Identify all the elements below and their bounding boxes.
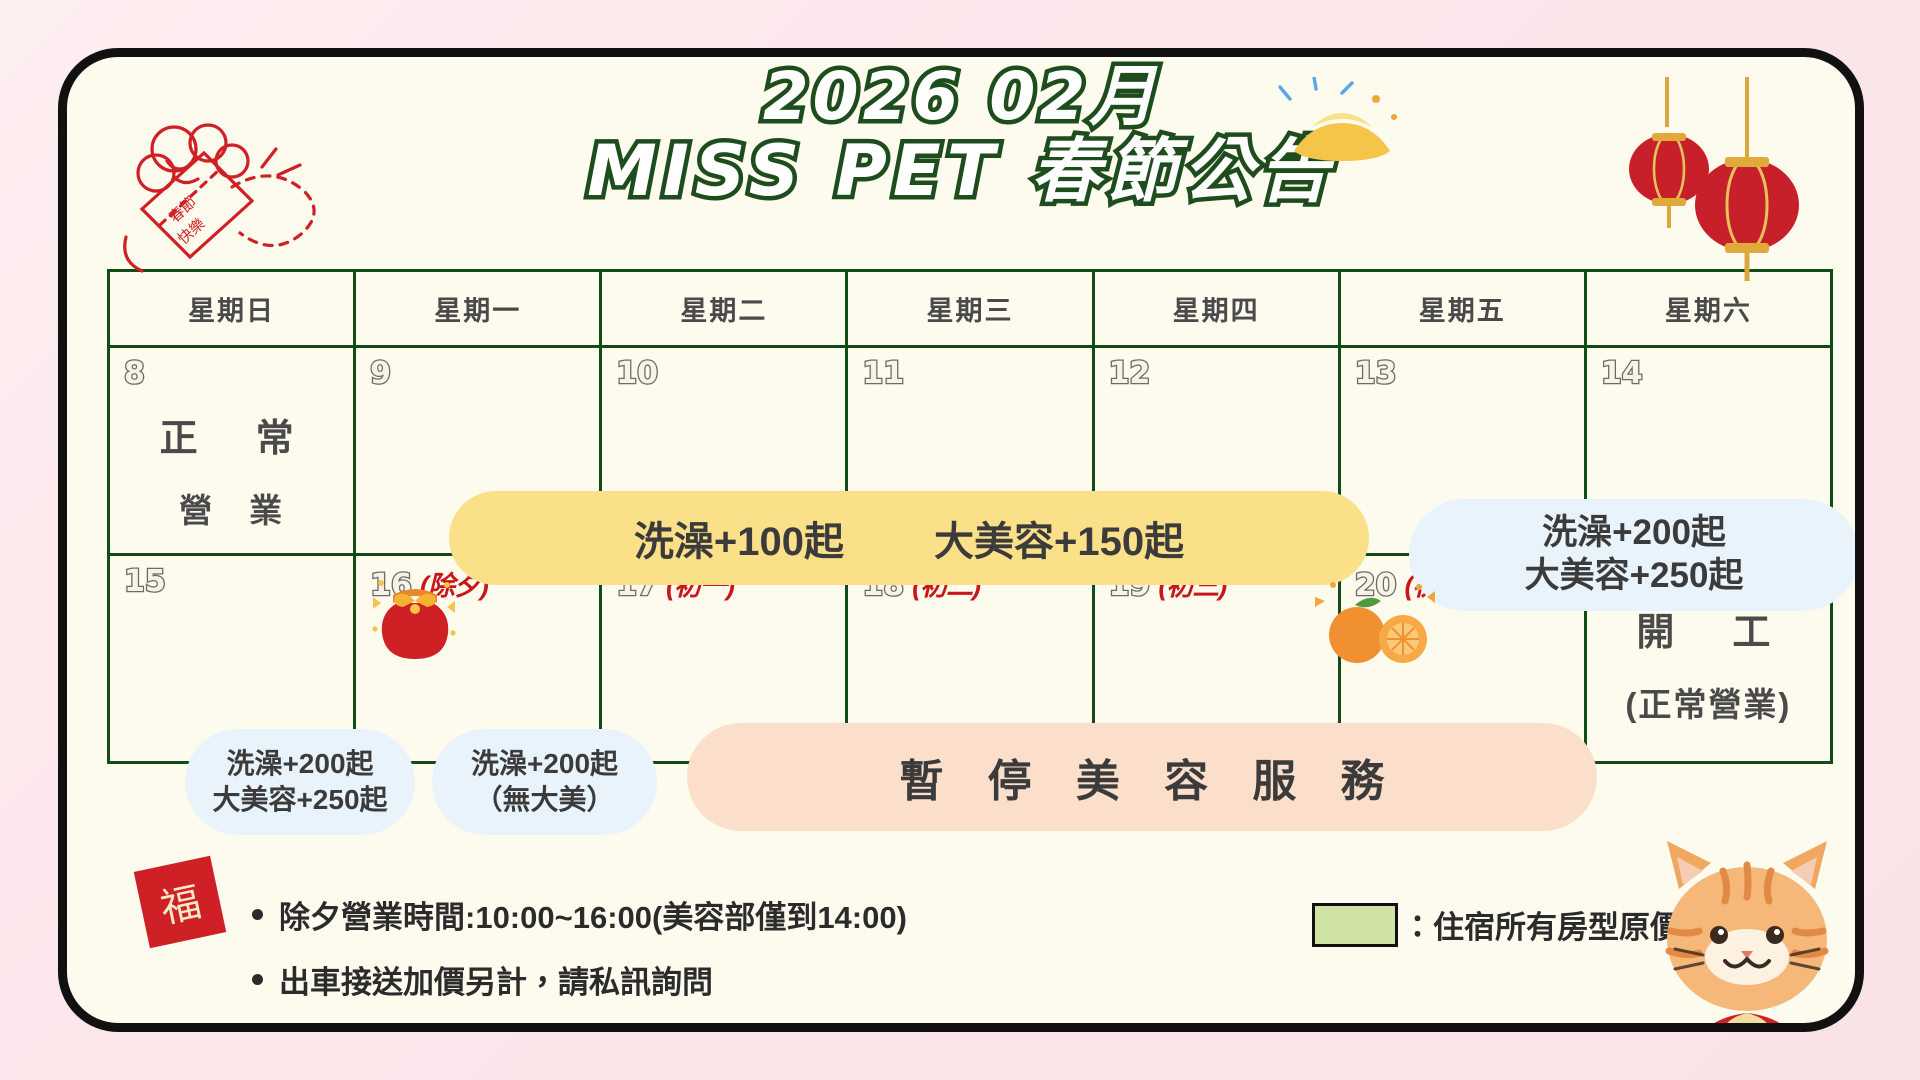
note-text: 2/17-2/20辦理入住退宿時段:10:00~13:00/17:00~20:0… [279, 1022, 1030, 1032]
day-cell-note-line2: (正常營業) [1587, 681, 1830, 729]
weekday-header-thu: 星期四 [1093, 271, 1339, 347]
page-title-year-month: 2026 02月 [67, 61, 1855, 132]
note-item: 除夕營業時間:10:00~16:00(美容部僅到14:00) [252, 892, 1312, 937]
gold-ingot-icon [1272, 77, 1412, 177]
calendar-header-row: 星期日 星期一 星期二 星期三 星期四 星期五 星期六 [109, 271, 1832, 347]
promo-banner-line-2: 大美容+250起 [1525, 555, 1744, 598]
promo-banner-suspended[interactable]: 暫 停 美 容 服 務 [687, 723, 1597, 831]
promo-banner-line-1: 洗澡+200起 [1542, 512, 1726, 555]
poster-card: 2026 02月 MISS PET 春節公告 春節 快樂 [58, 48, 1864, 1032]
promo-banner-line-1: 洗澡+200起 [226, 746, 373, 782]
promo-banner-blue-week1[interactable]: 洗澡+200起 大美容+250起 [1409, 499, 1859, 611]
bullet-icon [252, 974, 263, 985]
promo-banner-line-1: 洗澡+200起 [471, 746, 618, 782]
day-cell-note-line1: 開 工 [1636, 612, 1780, 654]
weekday-header-sat: 星期六 [1585, 271, 1831, 347]
legend-color-swatch [1312, 903, 1398, 947]
promo-banner-yellow-text-b: 大美容+150起 [934, 509, 1184, 567]
legend: ：住宿所有房型原價計算 [1312, 902, 1743, 947]
weekday-header-sun: 星期日 [109, 271, 355, 347]
day-number: 9 [370, 356, 391, 391]
weekday-header-tue: 星期二 [601, 271, 847, 347]
weekday-header-fri: 星期五 [1339, 271, 1585, 347]
promo-banner-day15[interactable]: 洗澡+200起 大美容+250起 [185, 729, 415, 835]
promo-banner-line-2: 大美容+250起 [212, 782, 387, 818]
weekday-header-wed: 星期三 [847, 271, 1093, 347]
day-cell-note-line2: 營 業 [110, 487, 353, 535]
day-cell-note: 正 常 營 業 [110, 412, 353, 535]
day-number: 14 [1601, 356, 1643, 391]
promo-banner-day16[interactable]: 洗澡+200起 （無大美） [432, 729, 657, 835]
day-cell-note-line1: 正 常 [160, 418, 304, 460]
svg-text:福: 福 [156, 879, 205, 932]
promo-banner-yellow-text-a: 洗澡+100起 [634, 509, 844, 567]
note-text: 除夕營業時間:10:00~16:00(美容部僅到14:00) [279, 892, 907, 937]
page-title-main: MISS PET 春節公告 [67, 134, 1855, 210]
day-cell-8[interactable]: 8 正 常 營 業 [109, 347, 355, 555]
bullet-icon [252, 909, 263, 920]
promo-banner-line-2: （無大美） [474, 782, 614, 818]
poster-title-block: 2026 02月 MISS PET 春節公告 [67, 57, 1855, 210]
day-number: 11 [862, 356, 904, 391]
day-number: 12 [1109, 356, 1151, 391]
note-item: 2/17-2/20辦理入住退宿時段:10:00~13:00/17:00~20:0… [252, 1022, 1312, 1032]
svg-text:快樂: 快樂 [174, 215, 208, 248]
day-number: 15 [124, 564, 166, 599]
legend-label: ：住宿所有房型原價計算 [1402, 902, 1743, 947]
weekday-header-mon: 星期一 [355, 271, 601, 347]
day-number: 10 [616, 356, 658, 391]
fu-charm-icon: 福 [127, 847, 237, 962]
promo-banner-yellow[interactable]: 洗澡+100起 大美容+150起 [449, 491, 1369, 585]
day-number: 8 [124, 356, 145, 391]
day-cell-note: 開 工 (正常營業) [1587, 606, 1830, 729]
notes-list: 除夕營業時間:10:00~16:00(美容部僅到14:00) 出車接送加價另計，… [252, 892, 1312, 1032]
note-item: 出車接送加價另計，請私訊詢問 [252, 957, 1312, 1002]
svg-text:春節: 春節 [165, 193, 199, 226]
day-number: 13 [1355, 356, 1397, 391]
note-text: 出車接送加價另計，請私訊詢問 [279, 957, 713, 1002]
